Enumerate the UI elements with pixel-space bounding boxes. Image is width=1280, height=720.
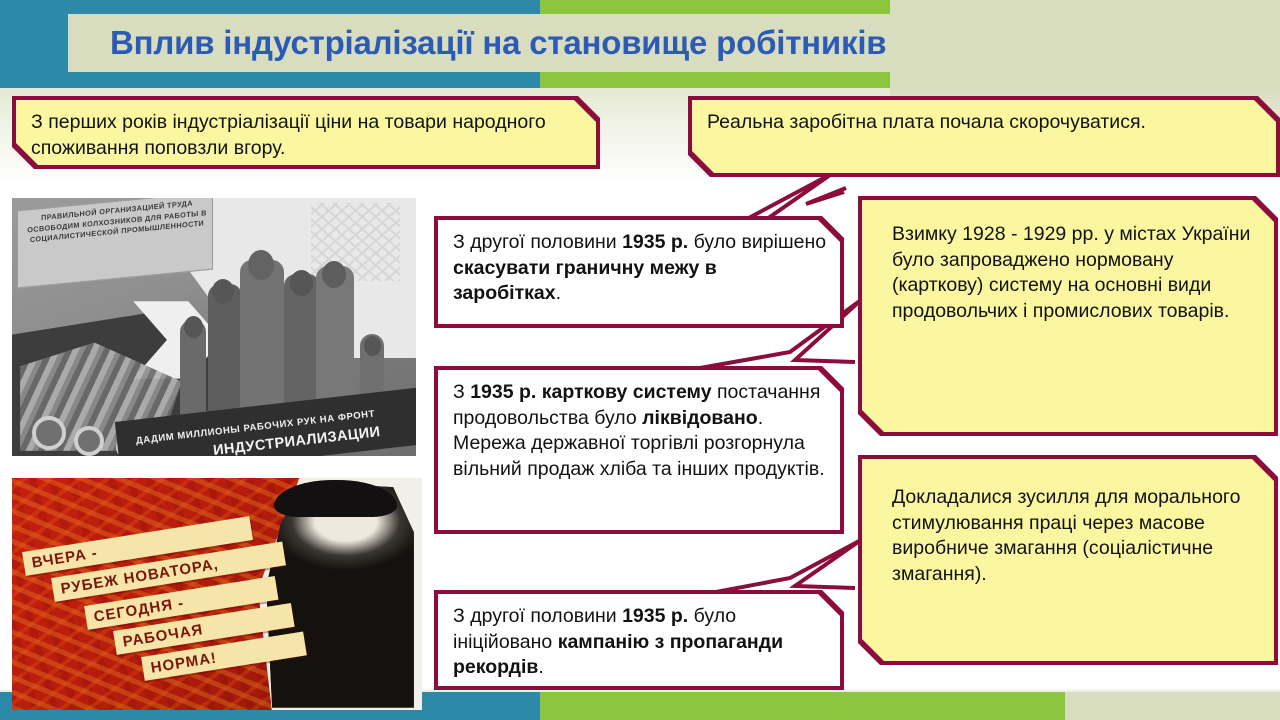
worker-head bbox=[322, 261, 346, 288]
note-record-propaganda-campaign-text: З другої половини 1935 р. було ініційова… bbox=[438, 594, 840, 686]
note-wage-ceiling-abolished[interactable]: З другої половини 1935 р. було вирішено … bbox=[434, 216, 844, 328]
note-wage-ceiling-abolished-text: З другої половини 1935 р. було вирішено … bbox=[438, 220, 840, 324]
wheel-icon bbox=[74, 426, 104, 456]
callout-real-wage-fell[interactable]: Реальна заробітна плата почала скорочува… bbox=[688, 96, 1280, 177]
note-rationing-abolished-text: З 1935 р. карткову систему постачання пр… bbox=[438, 370, 840, 530]
footer-band-sage bbox=[1065, 692, 1280, 720]
worker-head bbox=[290, 270, 313, 296]
note-record-propaganda-campaign[interactable]: З другої половини 1935 р. було ініційова… bbox=[434, 590, 844, 690]
callout-rationing-introduced-text: Взимку 1928 - 1929 рр. у містах України … bbox=[862, 200, 1274, 432]
poster-worker-norm: ВЧЕРА - РУБЕЖ НОВАТОРА, СЕГОДНЯ - РАБОЧА… bbox=[12, 478, 422, 710]
note-rationing-abolished[interactable]: З 1935 р. карткову систему постачання пр… bbox=[434, 366, 844, 534]
poster-placard: ПРАВИЛЬНОЙ ОРГАНИЗАЦИЕЙ ТРУДА ОСВОБОДИМ … bbox=[17, 198, 213, 288]
worker-head bbox=[248, 250, 274, 280]
poster-industrialization-art: ПРАВИЛЬНОЙ ОРГАНИЗАЦИЕЙ ТРУДА ОСВОБОДИМ … bbox=[12, 198, 416, 456]
poster-worker-norm-art: ВЧЕРА - РУБЕЖ НОВАТОРА, СЕГОДНЯ - РАБОЧА… bbox=[12, 478, 422, 710]
poster-industrialization: ПРАВИЛЬНОЙ ОРГАНИЗАЦИЕЙ ТРУДА ОСВОБОДИМ … bbox=[12, 198, 416, 456]
callout-moral-stimulation-text: Докладалися зусилля для морального стиму… bbox=[862, 459, 1274, 661]
callout-moral-stimulation[interactable]: Докладалися зусилля для морального стиму… bbox=[858, 455, 1278, 665]
callout-prices-rose[interactable]: З перших років індустріалізації ціни на … bbox=[12, 96, 600, 169]
wheel-icon bbox=[32, 416, 66, 450]
callout-prices-rose-text: З перших років індустріалізації ціни на … bbox=[16, 100, 596, 165]
worker-head bbox=[212, 279, 234, 304]
footer-band-green bbox=[540, 692, 1065, 720]
callout-real-wage-fell-text: Реальна заробітна плата почала скорочува… bbox=[692, 100, 1276, 173]
worker-head bbox=[184, 316, 203, 338]
callout-rationing-introduced[interactable]: Взимку 1928 - 1929 рр. у містах України … bbox=[858, 196, 1278, 436]
page-title: Вплив індустріалізації на становище робі… bbox=[110, 20, 1110, 68]
poster-placard-text: ПРАВИЛЬНОЙ ОРГАНИЗАЦИЕЙ ТРУДА ОСВОБОДИМ … bbox=[24, 198, 210, 246]
worker-head bbox=[364, 336, 381, 356]
